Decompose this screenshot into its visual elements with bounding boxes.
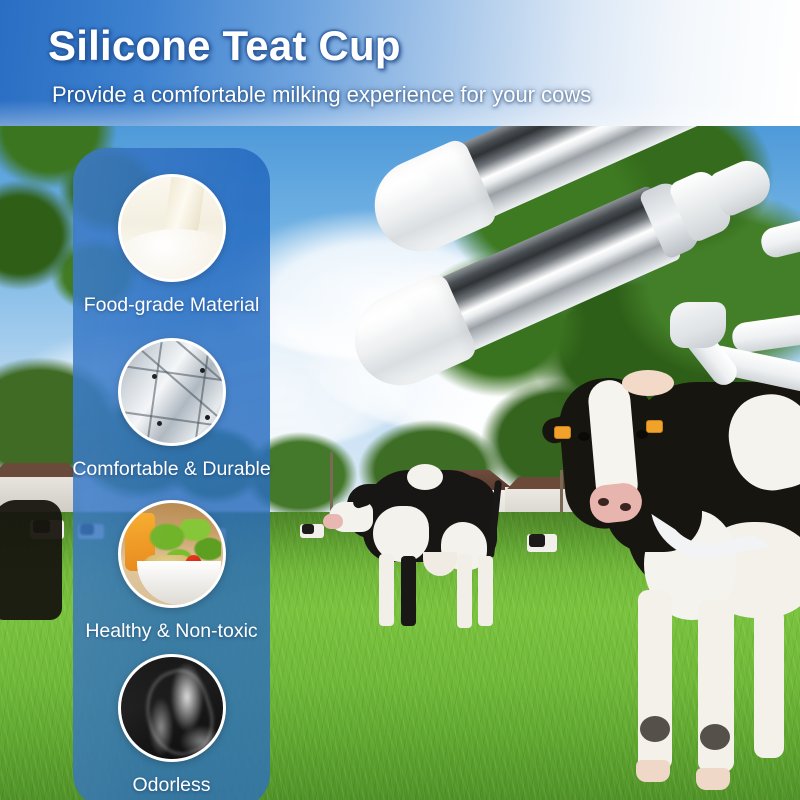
cow-patch	[407, 464, 443, 490]
milk-pour-art	[121, 177, 223, 279]
holstein-cow-mid	[345, 462, 513, 647]
page-title: Silicone Teat Cup	[48, 22, 401, 70]
cow-hoof	[636, 760, 670, 782]
lettuce	[147, 519, 221, 569]
product-teat-cups	[340, 110, 800, 450]
cow-leg	[638, 590, 672, 770]
cow-nostril	[598, 498, 609, 506]
feature-label-durable: Comfortable & Durable	[42, 458, 302, 481]
bowl	[137, 561, 221, 605]
product-marketing-image: Food-grade Material Comfortable & Durabl…	[0, 0, 800, 800]
tomato	[185, 555, 202, 575]
tube-joint	[670, 302, 726, 348]
cow-leg	[457, 554, 472, 628]
feature-panel: Food-grade Material Comfortable & Durabl…	[73, 148, 270, 800]
feature-non-toxic: Healthy & Non-toxic	[73, 500, 270, 608]
cow-knee	[700, 724, 730, 750]
feature-durable: Comfortable & Durable	[73, 338, 270, 446]
cow-nostril	[620, 503, 631, 511]
smoke-art	[121, 657, 223, 759]
feature-odorless: Odorless	[73, 654, 270, 762]
cow-hoof	[696, 768, 730, 790]
cow-muzzle	[323, 514, 343, 529]
page-subtitle: Provide a comfortable milking experience…	[52, 82, 591, 108]
cow-leg	[478, 556, 493, 626]
cow-leg	[754, 608, 784, 758]
feature-label-odorless: Odorless	[42, 774, 302, 797]
salad-bowl-art	[121, 503, 223, 605]
feature-food-grade: Food-grade Material	[73, 174, 270, 282]
cow-leg	[379, 554, 394, 626]
cow-leg	[401, 556, 416, 626]
cow-knee	[640, 716, 670, 742]
cow-udder	[423, 552, 457, 576]
milk-pour-icon	[118, 174, 226, 282]
edge-cow	[0, 500, 62, 620]
metal-panel-icon	[118, 338, 226, 446]
salad-bowl-icon	[118, 500, 226, 608]
tomato	[199, 563, 216, 583]
milk-tube	[758, 200, 800, 261]
distant-cow	[300, 524, 324, 538]
metal-panel-art	[121, 341, 223, 443]
feature-label-non-toxic: Healthy & Non-toxic	[42, 620, 302, 643]
milk-tube	[730, 308, 800, 354]
grain	[143, 555, 193, 577]
smoke-icon	[118, 654, 226, 762]
feature-label-food-grade: Food-grade Material	[42, 294, 302, 317]
juice-glass	[125, 513, 155, 571]
